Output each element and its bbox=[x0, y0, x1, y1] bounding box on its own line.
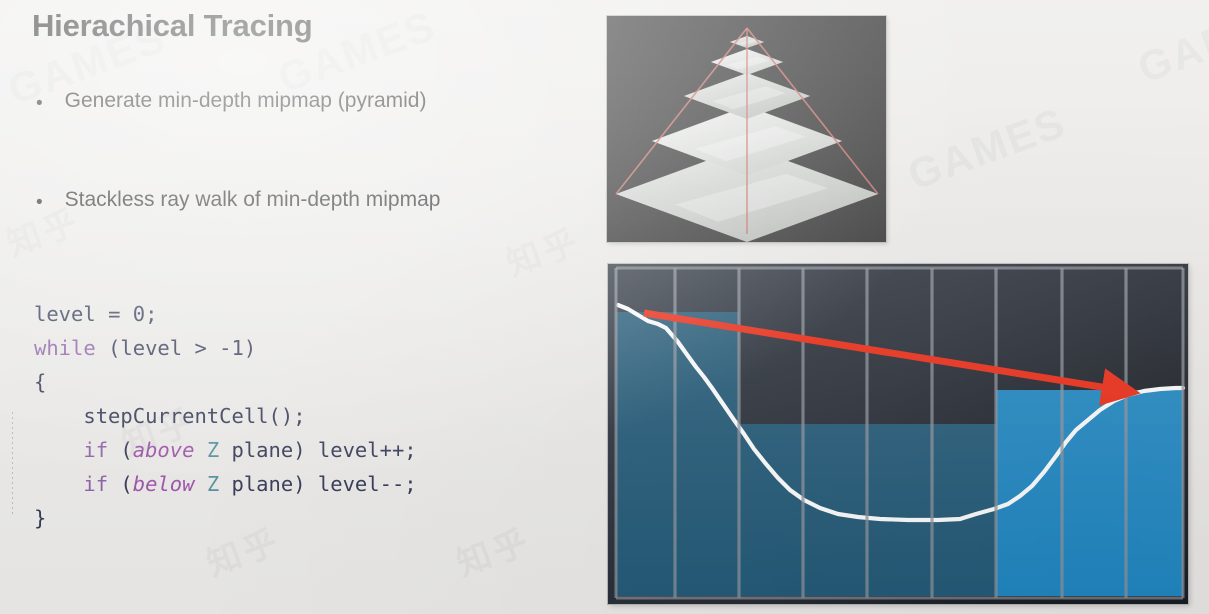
code-token: ) bbox=[244, 336, 256, 360]
watermark-text: GAMES bbox=[902, 98, 1073, 199]
code-line: { bbox=[34, 365, 417, 399]
hiz-traversal-figure bbox=[608, 264, 1188, 604]
code-token bbox=[96, 336, 108, 360]
code-token: if bbox=[83, 472, 108, 496]
slide-canvas: GAMESGAMESGAMESGAMESGAMES知乎知乎知乎知乎知乎 Hier… bbox=[0, 0, 1209, 614]
min-depth-cell-2 bbox=[739, 424, 803, 596]
code-token: level bbox=[34, 302, 96, 326]
code-token: --; bbox=[380, 472, 417, 496]
code-token: 0 bbox=[133, 302, 145, 326]
code-line: if (below Z plane) level--; bbox=[34, 467, 417, 501]
code-indent bbox=[34, 472, 83, 496]
code-token: plane bbox=[232, 438, 294, 462]
code-token: stepCurrentCell bbox=[83, 404, 268, 428]
code-token: { bbox=[34, 370, 46, 394]
min-depth-cell-4 bbox=[867, 424, 932, 596]
bullet-text-0: Generate min-depth mipmap (pyramid) bbox=[65, 89, 427, 113]
code-token bbox=[219, 472, 231, 496]
code-token: level bbox=[318, 472, 380, 496]
code-indent bbox=[34, 438, 83, 462]
code-token: ; bbox=[145, 302, 157, 326]
code-token bbox=[207, 336, 219, 360]
code-block: level = 0;while (level > -1){ stepCurren… bbox=[34, 297, 417, 535]
code-line: while (level > -1) bbox=[34, 331, 417, 365]
watermark-text: 知乎 bbox=[449, 513, 537, 585]
code-token: ( bbox=[108, 438, 133, 462]
bullet-item-1: • Stackless ray walk of min-depth mipmap bbox=[36, 188, 440, 212]
code-token: ) bbox=[293, 438, 318, 462]
mipmap-pyramid-figure bbox=[607, 16, 886, 242]
code-token bbox=[219, 438, 231, 462]
min-depth-cell-3 bbox=[803, 424, 867, 596]
code-token: Z bbox=[207, 438, 219, 462]
code-token: while bbox=[34, 336, 96, 360]
code-indent bbox=[34, 404, 83, 428]
code-token bbox=[96, 302, 108, 326]
code-token bbox=[194, 472, 206, 496]
watermark-text: 知乎 bbox=[499, 213, 587, 285]
code-token: plane bbox=[232, 472, 294, 496]
code-line: level = 0; bbox=[34, 297, 417, 331]
code-token: ++; bbox=[380, 438, 417, 462]
hiz-svg bbox=[608, 264, 1188, 604]
bullet-marker-icon: • bbox=[36, 89, 43, 113]
watermark-text: GAMES bbox=[1132, 0, 1209, 93]
page-title: Hierachical Tracing bbox=[32, 8, 313, 44]
code-token: ( bbox=[108, 472, 133, 496]
min-depth-cell-7 bbox=[1062, 390, 1126, 596]
min-depth-cell-6 bbox=[996, 390, 1062, 596]
code-token: ( bbox=[108, 336, 120, 360]
code-line: stepCurrentCell(); bbox=[34, 399, 417, 433]
min-depth-cell-0 bbox=[616, 312, 675, 596]
bullet-marker-icon: • bbox=[36, 188, 43, 212]
bullet-text-1: Stackless ray walk of min-depth mipmap bbox=[65, 188, 441, 212]
code-token: below bbox=[133, 472, 195, 496]
code-token: } bbox=[34, 506, 46, 530]
code-token: (); bbox=[269, 404, 306, 428]
code-token: level bbox=[318, 438, 380, 462]
bullet-item-0: • Generate min-depth mipmap (pyramid) bbox=[36, 89, 426, 113]
code-token: above bbox=[133, 438, 195, 462]
code-token bbox=[182, 336, 194, 360]
code-token: = bbox=[108, 302, 120, 326]
code-token bbox=[194, 438, 206, 462]
code-token: -1 bbox=[219, 336, 244, 360]
code-token: Z bbox=[207, 472, 219, 496]
code-token bbox=[120, 302, 132, 326]
min-depth-cell-8 bbox=[1126, 390, 1183, 596]
code-token: if bbox=[83, 438, 108, 462]
code-line: if (above Z plane) level++; bbox=[34, 433, 417, 467]
code-line: } bbox=[34, 501, 417, 535]
code-token: > bbox=[194, 336, 206, 360]
code-token: ) bbox=[293, 472, 318, 496]
indent-guide-line bbox=[12, 412, 13, 514]
pyramid-svg bbox=[607, 16, 886, 242]
code-token: level bbox=[120, 336, 182, 360]
